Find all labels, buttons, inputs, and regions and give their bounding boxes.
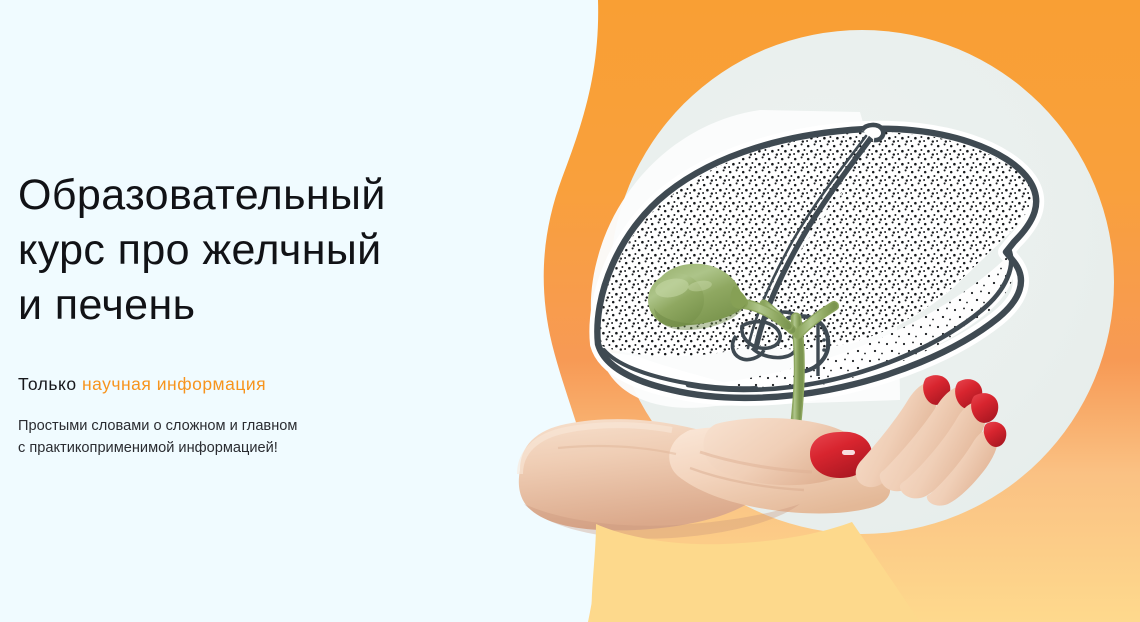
hero-subheading: Только научная информация: [18, 333, 518, 396]
hero-subheading-accent: научная информация: [82, 374, 266, 394]
hero-body-copy: Простыми словами о сложном и главном с п…: [18, 396, 518, 460]
hero-subheading-static: Только: [18, 374, 82, 394]
hero-text-column: Образовательный курс про желчный и печен…: [18, 168, 518, 460]
page-title: Образовательный курс про желчный и печен…: [18, 168, 518, 333]
hero-banner: Образовательный курс про желчный и печен…: [0, 0, 1140, 622]
